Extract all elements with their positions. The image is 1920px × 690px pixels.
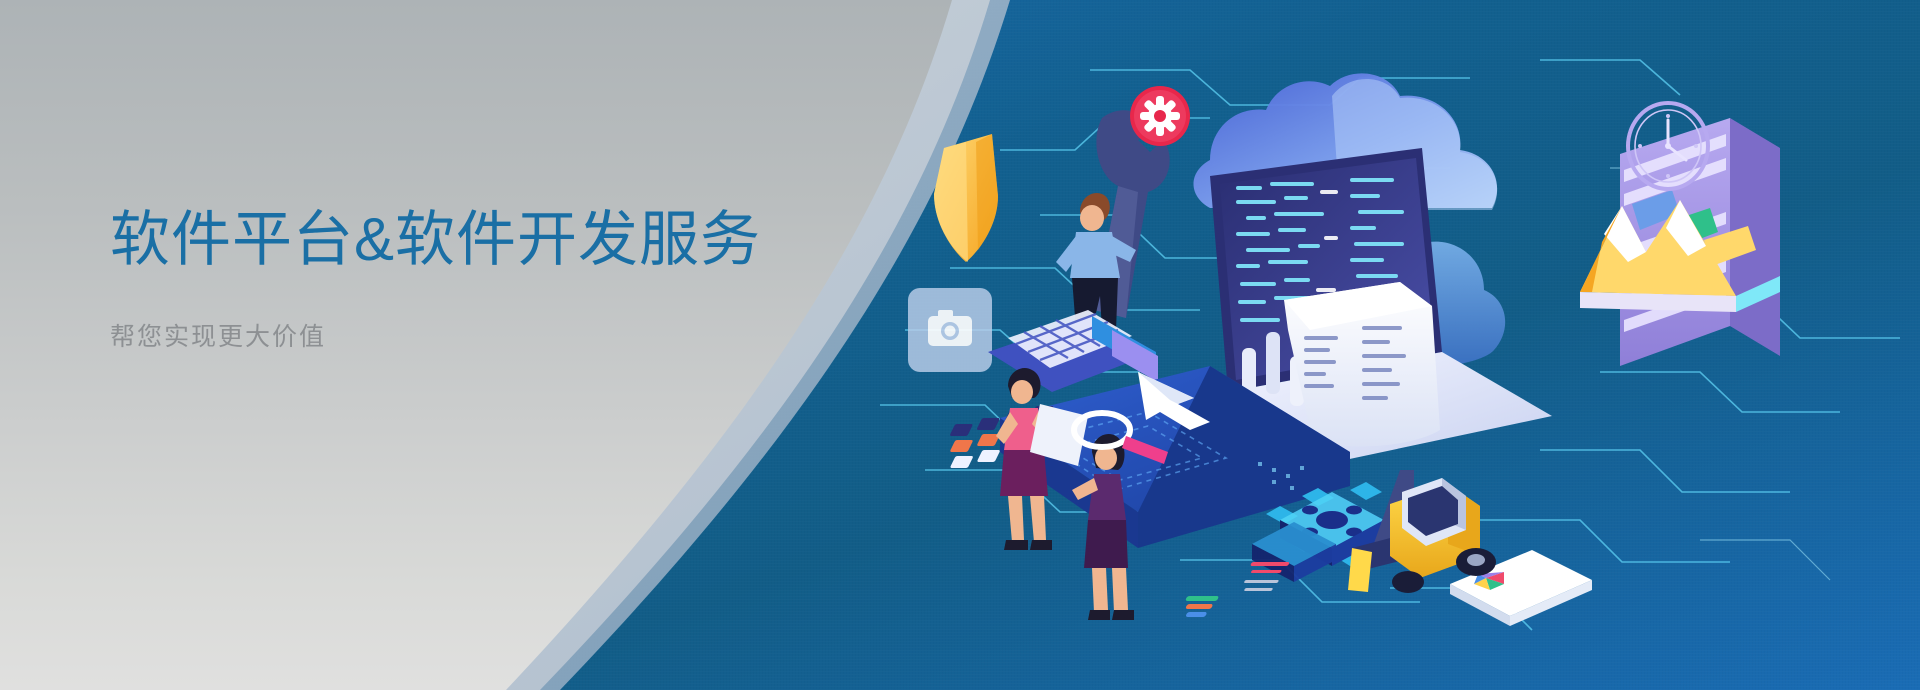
clock-icon (1628, 103, 1708, 189)
page-subtitle: 帮您实现更大价值 (110, 317, 761, 353)
camera-icon (908, 288, 992, 372)
banner-copy: 软件平台&软件开发服务 帮您实现更大价值 (110, 206, 761, 353)
person-analyst (996, 368, 1088, 550)
hero-banner: 软件平台&软件开发服务 帮您实现更大价值 (0, 0, 1920, 690)
shield-icon (934, 134, 998, 262)
gear-badge-icon (1130, 86, 1190, 146)
page-title: 软件平台&软件开发服务 (110, 206, 761, 273)
isometric-illustration (880, 0, 1920, 690)
mini-bar-chart (1185, 596, 1219, 617)
